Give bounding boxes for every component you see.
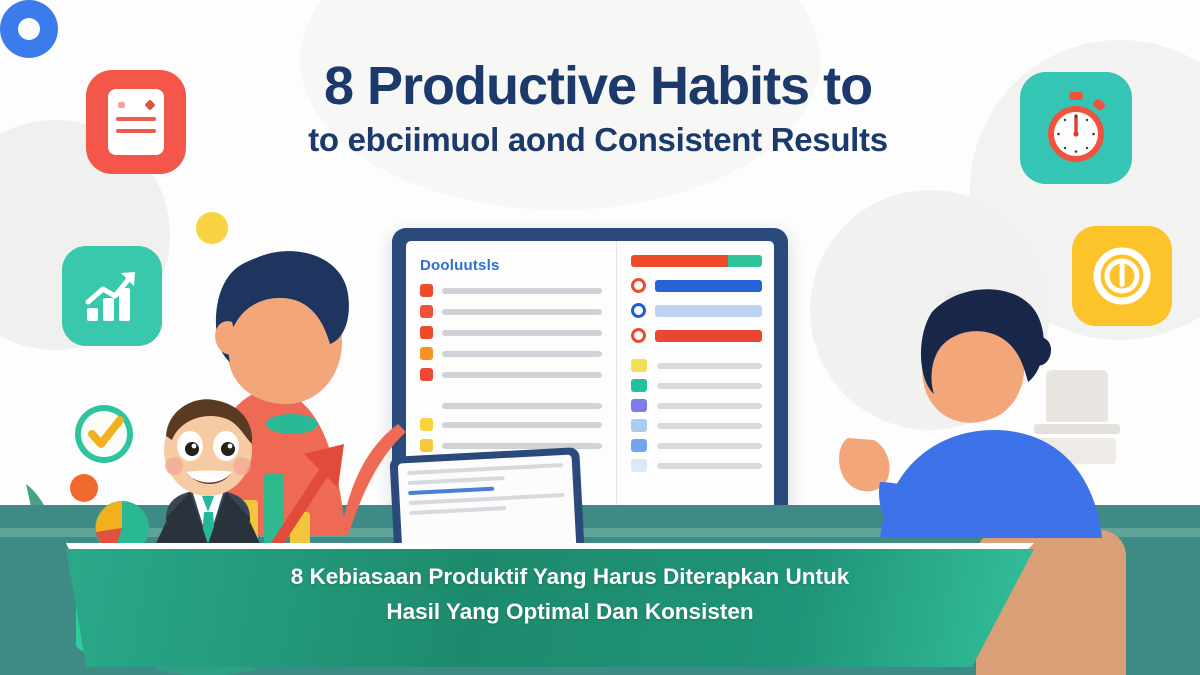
progress-segment-secondary — [728, 255, 762, 267]
status-row[interactable] — [631, 278, 762, 293]
status-bar — [655, 330, 762, 342]
tag-swatch[interactable] — [631, 399, 647, 412]
status-bar — [655, 305, 762, 317]
tag-text-bar — [657, 423, 762, 429]
growth-chart-icon — [83, 268, 141, 324]
tag-text-bar — [657, 383, 762, 389]
status-row[interactable] — [631, 328, 762, 343]
banner-text-block: 8 Kebiasaan Produktif Yang Harus Diterap… — [250, 560, 890, 630]
headline-line-2: to ebciimuol aond Consistent Results — [238, 121, 958, 159]
status-ring-icon — [631, 278, 646, 293]
blue-ring-accent — [0, 0, 58, 58]
tag-swatch[interactable] — [631, 419, 647, 432]
tag-text-bar — [657, 403, 762, 409]
tag-row[interactable] — [631, 399, 762, 412]
tag-text-bar — [657, 363, 762, 369]
banner-line-1: 8 Kebiasaan Produktif Yang Harus Diterap… — [250, 560, 890, 595]
status-row[interactable] — [631, 303, 762, 318]
tag-row[interactable] — [631, 379, 762, 392]
banner-top-border — [66, 543, 1034, 549]
headline-line-1: 8 Productive Habits to — [238, 58, 958, 115]
status-ring-icon — [631, 328, 646, 343]
growth-card[interactable] — [62, 246, 162, 346]
orange-sphere — [70, 474, 98, 502]
progress-segment-primary — [631, 255, 728, 267]
note-icon — [108, 89, 164, 155]
stopwatch-card[interactable] — [1020, 72, 1132, 184]
tag-row[interactable] — [631, 359, 762, 372]
person-blue-shirt — [836, 268, 1136, 538]
illustration-canvas: 8 Productive Habits to to ebciimuol aond… — [0, 0, 1200, 675]
tag-row[interactable] — [631, 459, 762, 472]
status-bar — [655, 280, 762, 292]
tag-text-bar — [657, 443, 762, 449]
tag-swatch[interactable] — [631, 439, 647, 452]
tag-row[interactable] — [631, 419, 762, 432]
headline-block: 8 Productive Habits to to ebciimuol aond… — [238, 58, 958, 159]
tag-row[interactable] — [631, 439, 762, 452]
stopwatch-icon — [1040, 90, 1112, 166]
tag-swatch[interactable] — [631, 379, 647, 392]
tag-text-bar — [657, 463, 762, 469]
progress-split-bar — [631, 255, 762, 267]
progress-panel[interactable] — [617, 241, 774, 512]
banner-line-2: Hasil Yang Optimal Dan Konsisten — [250, 595, 890, 630]
status-ring-icon — [631, 303, 646, 318]
tag-swatch[interactable] — [631, 459, 647, 472]
clock-check-icon — [75, 405, 133, 463]
tag-swatch[interactable] — [631, 359, 647, 372]
note-card[interactable] — [86, 70, 186, 174]
